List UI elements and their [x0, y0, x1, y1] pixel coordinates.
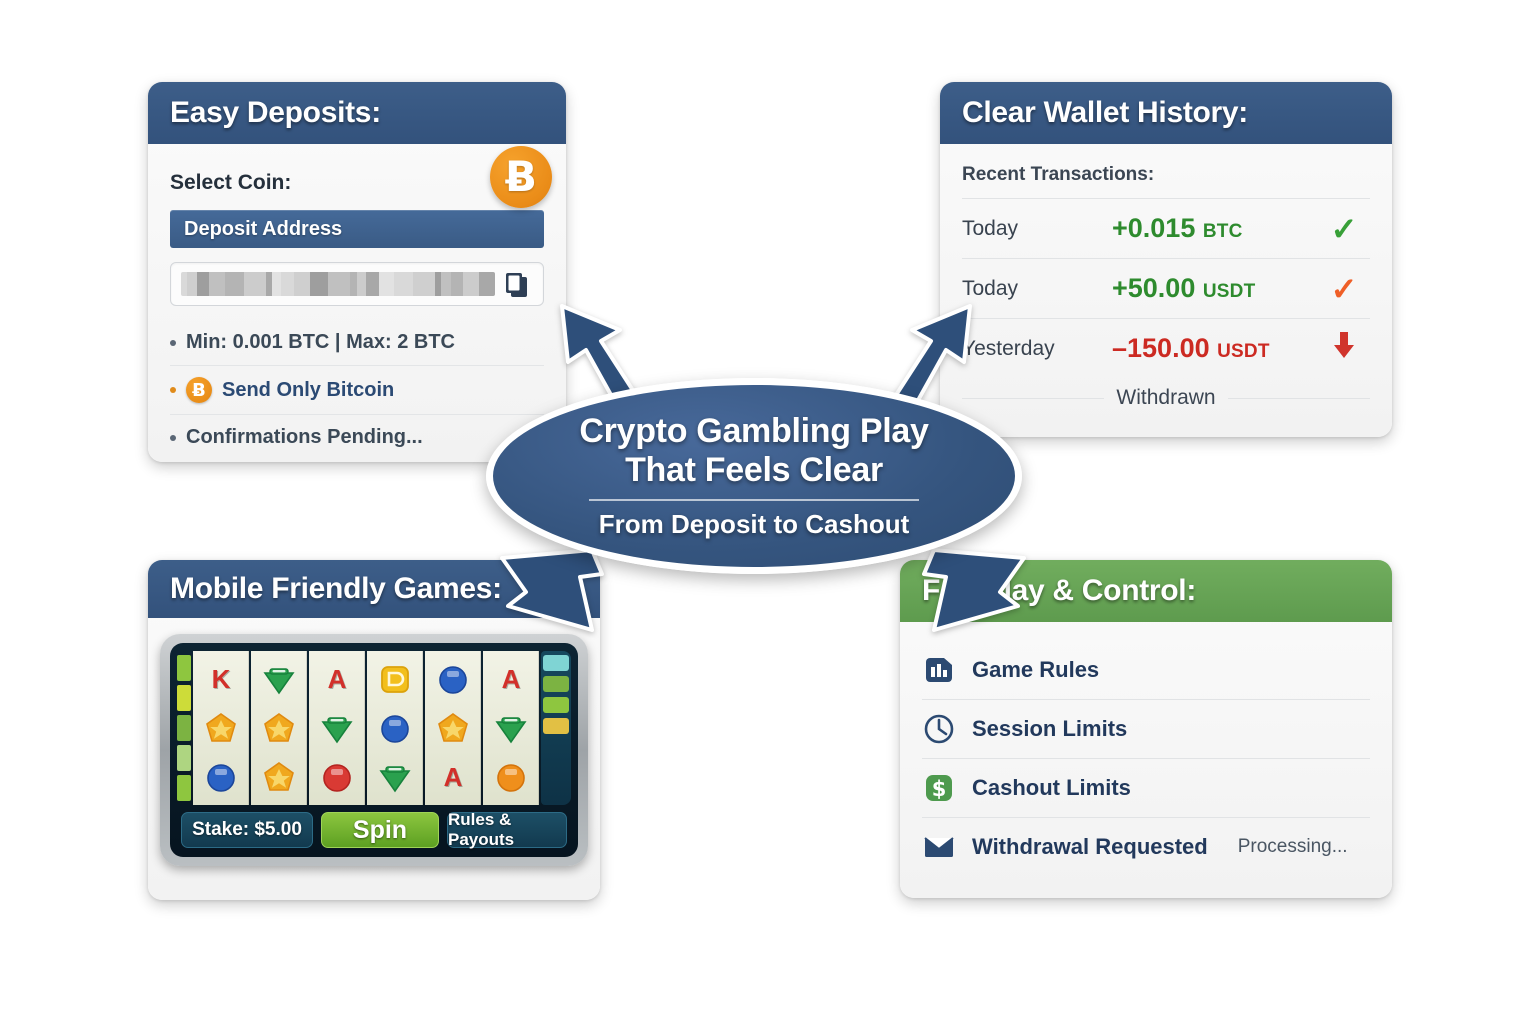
divider: [589, 499, 919, 501]
list-item-cashout-limits[interactable]: $ Cashout Limits: [922, 758, 1370, 817]
table-row[interactable]: Yesterday –150.00 USDT: [962, 318, 1370, 378]
bullet-dot: [170, 340, 176, 346]
spin-button[interactable]: Spin: [321, 812, 439, 848]
bullet-limits: Min: 0.001 BTC | Max: 2 BTC: [170, 320, 544, 366]
right-key-strip: [541, 651, 571, 805]
card-body-deposits: Select Coin: Ƀ Deposit Address: [148, 144, 566, 462]
redacted-address-value: [181, 272, 495, 296]
arrow-to-wallet: [876, 292, 988, 404]
bullet-send-only-bitcoin: Ƀ Send Only Bitcoin: [170, 366, 544, 415]
transaction-value: +0.015: [1112, 213, 1195, 243]
transaction-date: Today: [962, 217, 1112, 241]
card-wallet-history: Clear Wallet History: Recent Transaction…: [940, 82, 1392, 437]
phone-screen: KAAA Stake: $5.00 Spin Rules & Payouts: [170, 643, 578, 857]
card-title-deposits: Easy Deposits:: [170, 96, 381, 130]
slot-reels[interactable]: KAAA: [177, 651, 571, 805]
recent-transactions-label: Recent Transactions:: [962, 162, 1370, 198]
infographic-canvas: Easy Deposits: Select Coin: Ƀ Deposit Ad…: [0, 0, 1536, 1024]
card-body-wallet: Recent Transactions: Today +0.015 BTC ✓ …: [940, 144, 1392, 430]
transaction-value: +50.00: [1112, 273, 1195, 303]
select-coin-label: Select Coin:: [170, 171, 291, 195]
check-icon: ✓: [1318, 210, 1370, 248]
reel-grid: KAAA: [193, 651, 539, 805]
transaction-amount: –150.00 USDT: [1112, 333, 1318, 364]
arrow-down-icon: [1318, 328, 1370, 370]
slot-reel-3: A: [309, 651, 365, 805]
bullet-confirmations: Confirmations Pending...: [170, 415, 544, 460]
hub-ellipse: Crypto Gambling Play That Feels Clear Fr…: [486, 378, 1022, 574]
slot-reel-5: A: [425, 651, 481, 805]
arrow-to-fairplay: [912, 544, 1030, 646]
card-header-deposits: Easy Deposits:: [148, 82, 566, 144]
card-easy-deposits: Easy Deposits: Select Coin: Ƀ Deposit Ad…: [148, 82, 566, 462]
slot-reel-4: [367, 651, 423, 805]
bar-chart-icon: [922, 653, 956, 687]
transaction-unit: BTC: [1203, 221, 1243, 242]
list-item-game-rules[interactable]: Game Rules: [922, 640, 1370, 699]
card-header-wallet: Clear Wallet History:: [940, 82, 1392, 144]
transaction-amount: +50.00 USDT: [1112, 273, 1318, 304]
hub-title-line2: That Feels Clear: [625, 451, 883, 489]
bitcoin-mini-icon: Ƀ: [186, 377, 212, 403]
list-item-label: Game Rules: [972, 657, 1099, 683]
deposit-address-field[interactable]: [170, 262, 544, 306]
rules-payouts-button[interactable]: Rules & Payouts: [447, 812, 567, 848]
transaction-amount: +0.015 BTC: [1112, 213, 1318, 244]
slot-reel-1: K: [193, 651, 249, 805]
card-title-mobile: Mobile Friendly Games:: [170, 572, 502, 606]
bitcoin-glyph: Ƀ: [505, 156, 537, 198]
bitcoin-icon[interactable]: Ƀ: [490, 146, 552, 208]
card-title-wallet: Clear Wallet History:: [962, 96, 1248, 130]
card-body-fairplay: Game Rules Session Limits $: [900, 622, 1392, 896]
select-coin-row[interactable]: Select Coin: Ƀ: [170, 162, 544, 204]
hub-title: Crypto Gambling Play That Feels Clear: [579, 412, 928, 491]
stake-display[interactable]: Stake: $5.00: [181, 812, 313, 848]
table-row[interactable]: Today +50.00 USDT ✓: [962, 258, 1370, 318]
slot-reel-6: A: [483, 651, 539, 805]
list-item-label: Withdrawal Requested: [972, 834, 1208, 860]
divider: [1228, 398, 1370, 399]
transaction-value: –150.00: [1112, 333, 1210, 363]
list-item-session-limits[interactable]: Session Limits: [922, 699, 1370, 758]
list-item-label: Session Limits: [972, 716, 1127, 742]
transaction-unit: USDT: [1203, 281, 1256, 302]
svg-text:$: $: [932, 777, 947, 801]
slot-controls: Stake: $5.00 Spin Rules & Payouts: [177, 805, 571, 851]
card-body-mobile: KAAA Stake: $5.00 Spin Rules & Payouts: [148, 618, 600, 878]
deposit-address-bar[interactable]: Deposit Address: [170, 210, 544, 248]
check-icon: ✓: [1318, 270, 1370, 308]
copy-icon[interactable]: [503, 269, 533, 299]
bullet-confirmations-label: Confirmations Pending...: [186, 426, 423, 449]
bullet-dot: [170, 387, 176, 393]
bullet-send-only-label: Send Only Bitcoin: [222, 379, 394, 402]
transaction-unit: USDT: [1217, 341, 1270, 362]
clock-icon: [922, 712, 956, 746]
withdrawn-footer: Withdrawn: [962, 378, 1370, 410]
arrow-to-mobile: [496, 544, 614, 646]
phone-mockup: KAAA Stake: $5.00 Spin Rules & Payouts: [160, 634, 588, 866]
bullet-dot: [170, 435, 176, 441]
withdrawn-label: Withdrawn: [1116, 386, 1215, 410]
left-light-strip: [177, 651, 191, 805]
deposit-address-label: Deposit Address: [184, 218, 342, 241]
list-item-label: Cashout Limits: [972, 775, 1131, 801]
hub-title-line1: Crypto Gambling Play: [579, 412, 928, 450]
deposit-bullets: Min: 0.001 BTC | Max: 2 BTC Ƀ Send Only …: [170, 320, 544, 460]
slot-reel-2: [251, 651, 307, 805]
bullet-limits-label: Min: 0.001 BTC | Max: 2 BTC: [186, 331, 455, 354]
envelope-icon: [922, 830, 956, 864]
list-item-withdrawal-requested[interactable]: Withdrawal Requested Processing...: [922, 817, 1370, 876]
hub-subtitle: From Deposit to Cashout: [599, 509, 910, 540]
status-badge: Processing...: [1238, 836, 1348, 858]
table-row[interactable]: Today +0.015 BTC ✓: [962, 198, 1370, 258]
dollar-icon: $: [922, 771, 956, 805]
